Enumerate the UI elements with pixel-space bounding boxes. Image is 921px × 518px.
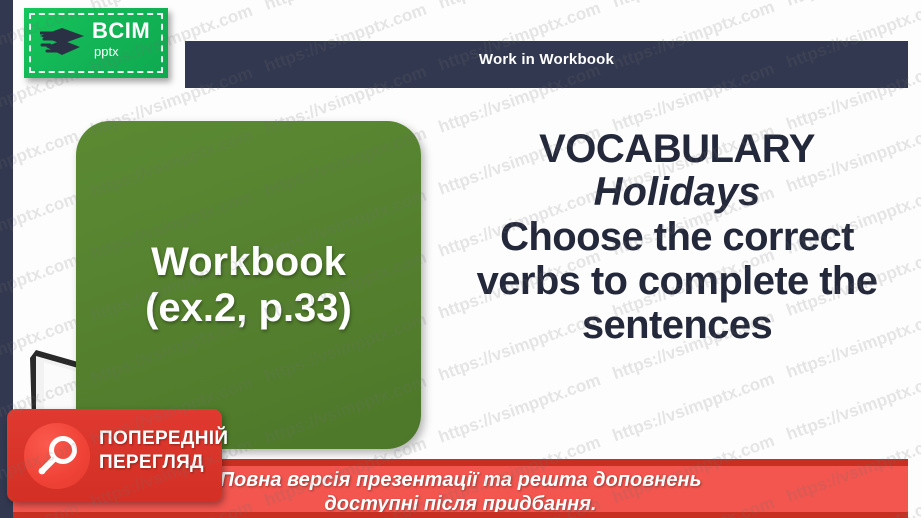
graduation-cap-icon bbox=[40, 24, 86, 62]
site-logo[interactable]: BCIM pptx bbox=[24, 8, 168, 78]
magnifier-icon bbox=[33, 431, 83, 481]
workbook-panel-line1: Workbook bbox=[151, 239, 346, 285]
preview-badge-text: ПОПЕРЕДНІЙ ПЕРЕГЛЯД bbox=[99, 427, 217, 476]
workbook-panel: Workbook (ex.2, p.33) bbox=[76, 121, 421, 449]
preview-badge-line1: ПОПЕРЕДНІЙ bbox=[99, 427, 217, 451]
slide-title-bar: Work in Workbook bbox=[185, 41, 908, 78]
preview-badge-line2: ПЕРЕГЛЯД bbox=[99, 451, 217, 475]
logo-sub-text: pptx bbox=[94, 45, 119, 58]
banner-bottom-edge bbox=[13, 512, 908, 518]
slide-canvas: Work in Workbook BCIM pptx bbox=[0, 0, 921, 518]
vocabulary-heading: VOCABULARY bbox=[452, 128, 902, 170]
workbook-panel-line2: (ex.2, p.33) bbox=[145, 285, 352, 331]
vocabulary-instruction: Choose the correct verbs to complete the… bbox=[452, 215, 902, 347]
vocabulary-text-block: VOCABULARY Holidays Choose the correct v… bbox=[452, 128, 902, 347]
slide-right-margin bbox=[908, 0, 921, 518]
page-title: Work in Workbook bbox=[479, 51, 614, 68]
logo-brand-text: BCIM bbox=[92, 20, 150, 42]
vocabulary-subheading: Holidays bbox=[452, 170, 902, 215]
preview-badge[interactable]: ПОПЕРЕДНІЙ ПЕРЕГЛЯД bbox=[7, 409, 222, 502]
